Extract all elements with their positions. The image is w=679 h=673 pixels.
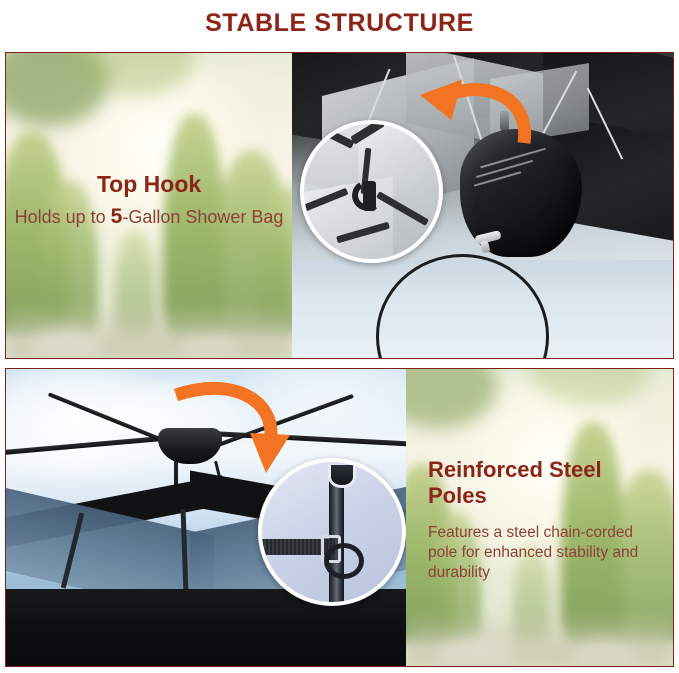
- steel-poles-text-area: Reinforced SteelPoles Features a steel c…: [406, 369, 673, 666]
- top-hook-gallon-value: 5: [111, 205, 123, 228]
- top-hook-text-area: Top Hook Holds up to 5-Gallon Shower Bag: [6, 53, 292, 358]
- top-hook-inset-circle: [300, 120, 443, 263]
- tent-interior-photo: [292, 53, 673, 358]
- steel-poles-heading-line2: Poles: [428, 483, 487, 508]
- feature-panel-steel-poles: Reinforced SteelPoles Features a steel c…: [5, 368, 674, 667]
- ceiling-hook: [363, 181, 376, 211]
- steel-pole-inset-circle: [258, 458, 406, 606]
- top-hook-text-block: Top Hook Holds up to 5-Gallon Shower Bag: [6, 171, 292, 230]
- tent-roof-photo: [6, 369, 406, 666]
- steel-poles-body: Features a steel chain-corded pole for e…: [428, 523, 659, 583]
- steel-poles-heading-line1: Reinforced Steel: [428, 457, 602, 482]
- steel-poles-text-block: Reinforced SteelPoles Features a steel c…: [428, 457, 659, 583]
- top-hook-subtext-suffix: -Gallon Shower Bag: [122, 207, 283, 227]
- pole-hub: [158, 428, 222, 464]
- top-hook-subtext: Holds up to 5-Gallon Shower Bag: [6, 203, 292, 230]
- page-title-bar: STABLE STRUCTURE: [0, 0, 679, 47]
- page-title: STABLE STRUCTURE: [205, 9, 474, 38]
- top-hook-subtext-prefix: Holds up to: [15, 207, 111, 227]
- feature-panel-top-hook: Top Hook Holds up to 5-Gallon Shower Bag: [5, 52, 674, 359]
- steel-poles-heading: Reinforced SteelPoles: [428, 457, 659, 509]
- top-hook-heading: Top Hook: [6, 171, 292, 198]
